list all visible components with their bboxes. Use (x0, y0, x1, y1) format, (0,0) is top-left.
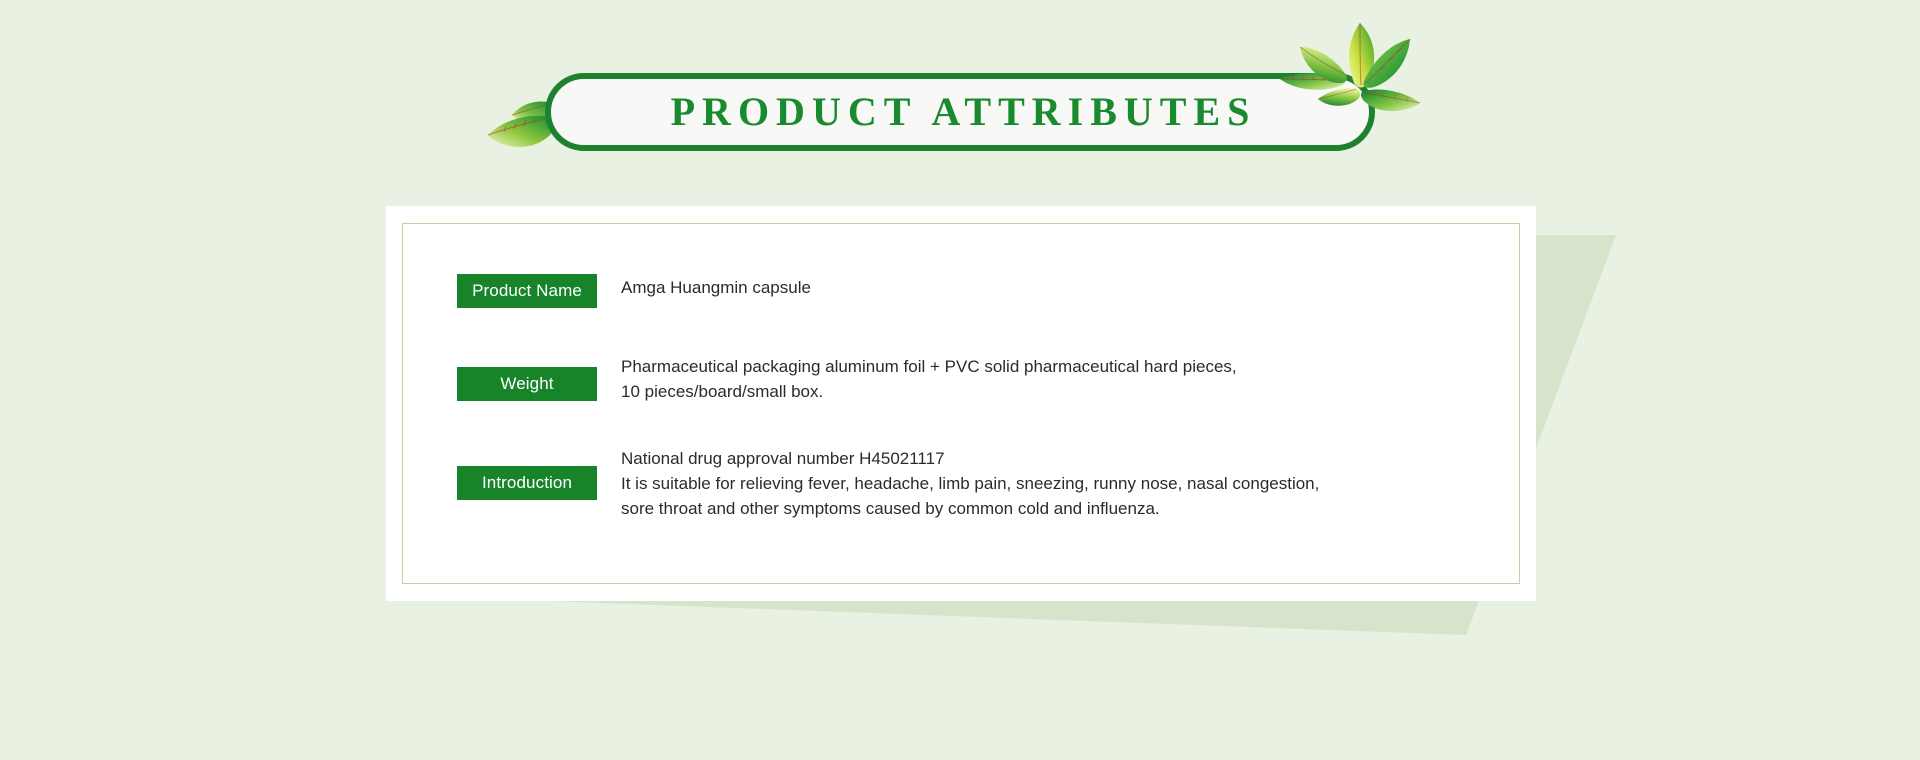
attribute-value-line: National drug approval number H45021117 (621, 446, 1497, 471)
attribute-value-weight: Pharmaceutical packaging aluminum foil +… (597, 354, 1497, 404)
attribute-value-line: Pharmaceutical packaging aluminum foil +… (621, 354, 1497, 379)
attribute-label-weight: Weight (457, 367, 597, 401)
attributes-card-inner-border: Product Name Amga Huangmin capsule Weigh… (402, 223, 1520, 584)
attribute-value-product-name: Amga Huangmin capsule (597, 275, 1497, 300)
attribute-value-introduction: National drug approval number H45021117 … (597, 446, 1497, 521)
attribute-value-line: Amga Huangmin capsule (621, 275, 1497, 300)
attribute-row-introduction: Introduction National drug approval numb… (457, 446, 1497, 521)
attributes-card: Product Name Amga Huangmin capsule Weigh… (386, 206, 1536, 601)
attribute-value-line: sore throat and other symptoms caused by… (621, 496, 1497, 521)
page-title: PRODUCT ATTRIBUTES (664, 92, 1257, 132)
attributes-list: Product Name Amga Huangmin capsule Weigh… (457, 274, 1497, 521)
attribute-row-product-name: Product Name Amga Huangmin capsule (457, 274, 1497, 308)
attribute-row-weight: Weight Pharmaceutical packaging aluminum… (457, 354, 1497, 404)
header-banner: PRODUCT ATTRIBUTES (480, 25, 1440, 150)
attribute-label-product-name: Product Name (457, 274, 597, 308)
title-pill: PRODUCT ATTRIBUTES (545, 73, 1375, 151)
product-attributes-page: PRODUCT ATTRIBUTES (0, 0, 1920, 760)
content-card-zone: Product Name Amga Huangmin capsule Weigh… (0, 195, 1920, 655)
attribute-value-line: 10 pieces/board/small box. (621, 379, 1497, 404)
attribute-label-introduction: Introduction (457, 466, 597, 500)
attribute-value-line: It is suitable for relieving fever, head… (621, 471, 1497, 496)
